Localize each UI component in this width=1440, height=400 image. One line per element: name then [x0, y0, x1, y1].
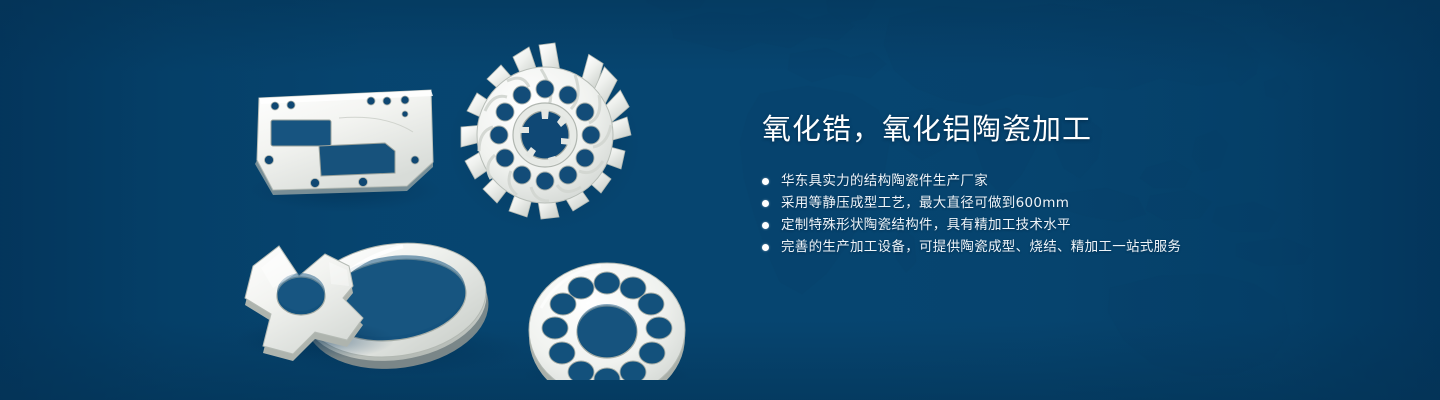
product-ceramic-impeller	[449, 43, 641, 231]
product-ceramic-perforated-disc	[523, 263, 691, 380]
bullet-dot-icon	[762, 178, 769, 185]
product-ceramic-plate	[250, 90, 440, 212]
feature-text: 华东具实力的结构陶瓷件生产厂家	[781, 170, 988, 192]
feature-text: 定制特殊形状陶瓷结构件，具有精加工技术水平	[781, 214, 1071, 236]
bullet-dot-icon	[762, 200, 769, 207]
list-item: 华东具实力的结构陶瓷件生产厂家	[762, 170, 1382, 192]
list-item: 采用等静压成型工艺，最大直径可做到600mm	[762, 192, 1382, 214]
feature-list: 华东具实力的结构陶瓷件生产厂家 采用等静压成型工艺，最大直径可做到600mm 定…	[762, 170, 1382, 258]
product-photo-group	[235, 40, 725, 380]
hero-banner: 氧化锆，氧化铝陶瓷加工 华东具实力的结构陶瓷件生产厂家 采用等静压成型工艺，最大…	[0, 0, 1440, 400]
list-item: 定制特殊形状陶瓷结构件，具有精加工技术水平	[762, 214, 1382, 236]
bullet-dot-icon	[762, 244, 769, 251]
feature-text: 完善的生产加工设备，可提供陶瓷成型、烧结、精加工一站式服务	[781, 236, 1181, 258]
banner-copy: 氧化锆，氧化铝陶瓷加工 华东具实力的结构陶瓷件生产厂家 采用等静压成型工艺，最大…	[762, 110, 1382, 258]
list-item: 完善的生产加工设备，可提供陶瓷成型、烧结、精加工一站式服务	[762, 236, 1382, 258]
page-title: 氧化锆，氧化铝陶瓷加工	[762, 110, 1382, 148]
bullet-dot-icon	[762, 222, 769, 229]
feature-text: 采用等静压成型工艺，最大直径可做到600mm	[781, 192, 1069, 214]
